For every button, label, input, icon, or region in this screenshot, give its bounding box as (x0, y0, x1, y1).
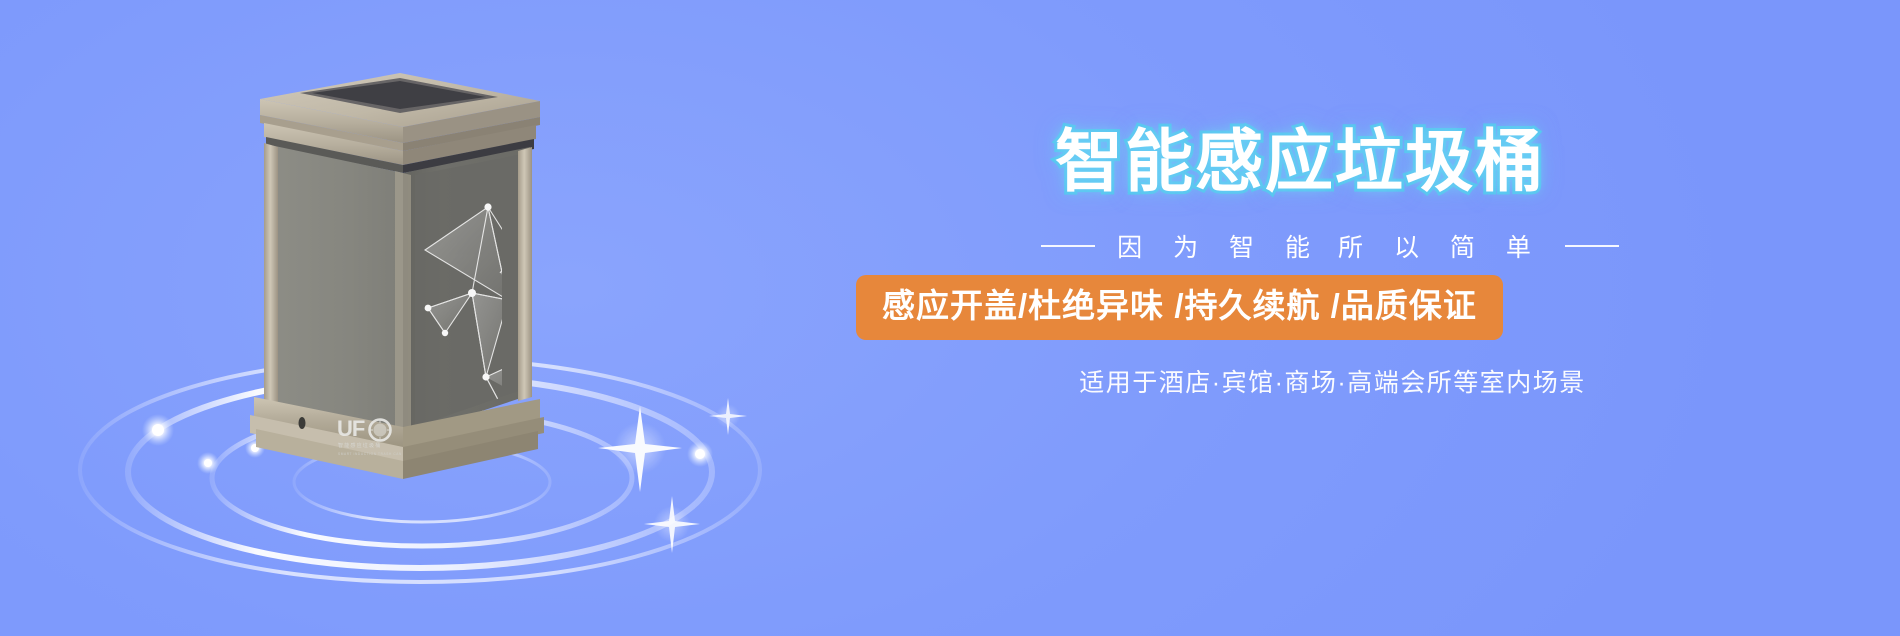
subtitle-rule-right (1565, 245, 1619, 247)
subtitle-rule-left (1041, 245, 1095, 247)
banner-title: 智能感应垃圾桶 (1055, 128, 1545, 196)
subtitle-text: 因 为 智 能所 以 简 单 (1117, 228, 1543, 264)
copy-block: 智能感应垃圾桶 因 为 智 能所 以 简 单 感应开盖/杜绝异味 /持久续航 /… (880, 0, 1900, 636)
banner-subtitle: 因 为 智 能所 以 简 单 (880, 228, 1900, 264)
brand-logo-subtext: 智能感应垃圾桶 (338, 442, 381, 449)
brand-logo: UF 智能感应垃圾桶 SMART INDUCTION TRASH CAN (336, 417, 402, 465)
usage-scenarios-note: 适用于酒店·宾馆·商场·高端会所等室内场景 (880, 363, 1900, 399)
subtitle-text-b: 所 以 简 单 (1338, 234, 1543, 262)
promo-banner: UF 智能感应垃圾桶 SMART INDUCTION TRASH CAN 智能感… (0, 0, 1900, 636)
feature-tagline-badge: 感应开盖/杜绝异味 /持久续航 /品质保证 (856, 275, 1503, 340)
sparkle-star (709, 398, 747, 435)
feature-tagline-text: 感应开盖/杜绝异味 /持久续航 /品质保证 (882, 287, 1477, 324)
subtitle-text-a: 因 为 智 能 (1117, 234, 1322, 262)
trash-bin-product: UF 智能感应垃圾桶 SMART INDUCTION TRASH CAN (240, 65, 550, 485)
product-stage: UF 智能感应垃圾桶 SMART INDUCTION TRASH CAN (60, 20, 820, 620)
brand-logo-text: UF (337, 417, 365, 441)
brand-logo-subtext2: SMART INDUCTION TRASH CAN (338, 452, 402, 456)
